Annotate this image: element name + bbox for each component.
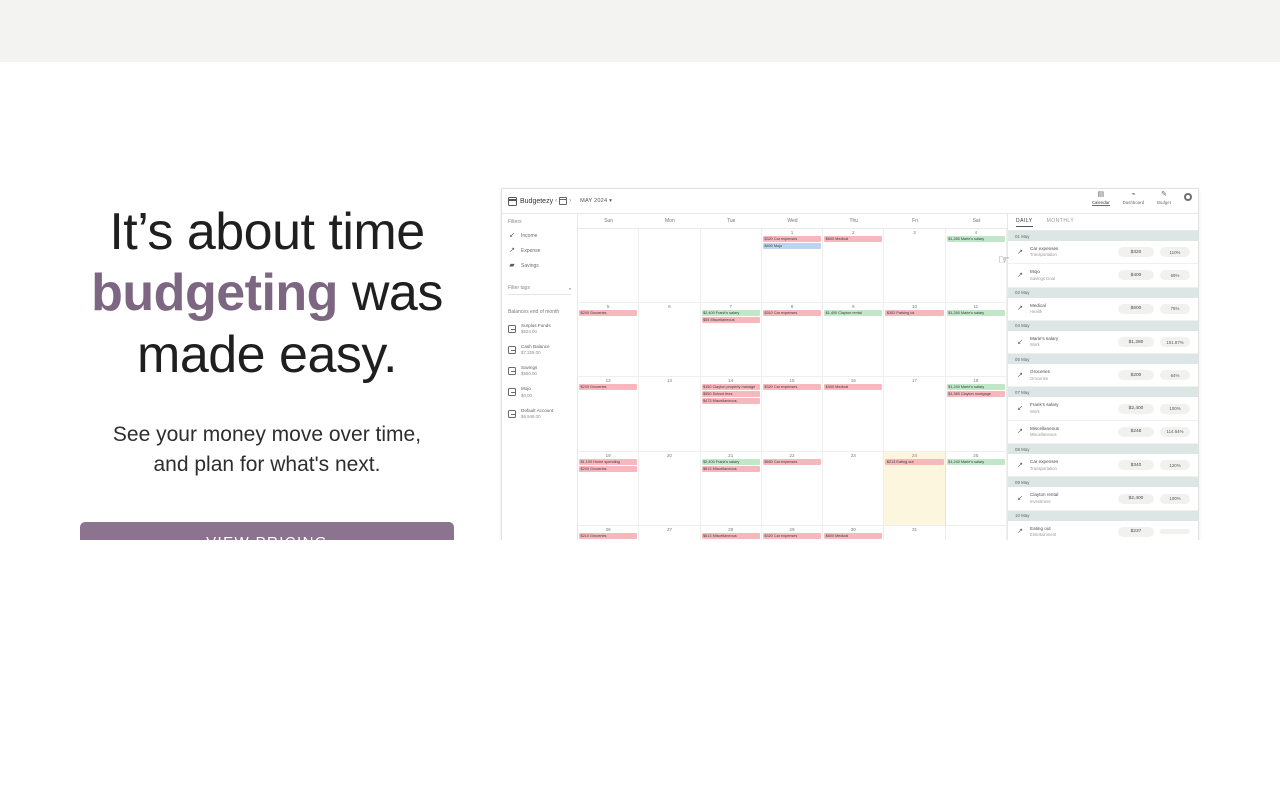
sidebar-filter-savings[interactable]: ▰Savings: [508, 262, 571, 269]
calendar-day-number: 14: [702, 378, 760, 383]
calendar-day-number: 31: [885, 527, 943, 532]
transaction-date-header: 01 May: [1008, 231, 1198, 241]
calendar-cell[interactable]: 11$1,280 Marie's salary: [946, 303, 1007, 377]
transaction-percent: 114.64%: [1160, 427, 1190, 437]
arrow-down-left-icon: ↙: [1016, 405, 1024, 412]
calendar-event[interactable]: $150 Clayton property manage: [702, 384, 760, 390]
transactions-tabs: DAILYMONTHLY: [1008, 214, 1198, 231]
transaction-row[interactable]: ↙Marie's salaryWork$1,280101.87%: [1008, 331, 1198, 354]
calendar-event[interactable]: $473 Miscellaneous: [702, 398, 760, 404]
calendar-day-number: 29: [763, 527, 821, 532]
calendar-icon: ▤: [1098, 191, 1105, 198]
balance-value: $524.00: [521, 329, 551, 335]
transaction-row[interactable]: ↗GroceriesGroceries$20064%: [1008, 364, 1198, 387]
calendar-cell[interactable]: 13: [639, 377, 700, 451]
calendar-day-number: 20: [640, 453, 698, 458]
sidebar-filter-label: Savings: [521, 263, 539, 269]
arrow-up-right-icon: ↗: [1016, 305, 1024, 312]
transaction-date-header: 04 May: [1008, 321, 1198, 331]
sidebar-filter-label: Expense: [521, 248, 540, 254]
balance-name: Mojo: [521, 386, 532, 392]
calendar-day-number: 12: [579, 378, 637, 383]
balance-name: Default Account: [521, 408, 553, 414]
hero-title-line1: It’s about time: [109, 203, 424, 261]
calendar-cell[interactable]: 1$320 Car expenses$400 Mojo: [762, 229, 823, 303]
calendar-day-number: 13: [640, 378, 698, 383]
calendar-event[interactable]: $600 Medical: [824, 533, 882, 539]
transaction-date-header: 07 May: [1008, 387, 1198, 397]
page-title: It’s about time budgeting was made easy.: [80, 202, 454, 386]
transaction-category: Entertainment: [1030, 532, 1112, 538]
calendar-day-number: 21: [702, 453, 760, 458]
calendar-day-number: 22: [763, 453, 821, 458]
hero-section: It’s about time budgeting was made easy.…: [0, 62, 1280, 540]
app-logo-icon: [508, 197, 517, 206]
transaction-category: Work: [1030, 409, 1112, 415]
transaction-row[interactable]: ↗MiscellaneousMiscellaneous$248114.64%: [1008, 421, 1198, 444]
app-screenshot-desktop: Budgetezy ‹ › MAY 2024 ▾ ▤ Calendar ⌁ Da…: [501, 188, 1199, 599]
arrow-down-left-icon: ↙: [1016, 495, 1024, 502]
filter-tags-label: Filter tags: [508, 285, 530, 291]
calendar-event[interactable]: $400 Medical: [824, 384, 882, 390]
arrow-up-right-icon: ↗: [1016, 462, 1024, 469]
transaction-percent: 69%: [1160, 270, 1190, 280]
transaction-name-block: MiscellaneousMiscellaneous: [1030, 426, 1112, 438]
wallet-icon: [508, 346, 516, 354]
calendar-cell[interactable]: 7$2,400 Frank's salary$55 Miscellaneous: [701, 303, 762, 377]
calendar-event[interactable]: $613 Miscellaneous: [702, 533, 760, 539]
app-topbar: Budgetezy ‹ › MAY 2024 ▾ ▤ Calendar ⌁ Da…: [502, 189, 1198, 214]
transaction-date-header: 08 May: [1008, 444, 1198, 454]
hero-subtitle-line1: See your money move over time,: [113, 423, 421, 446]
transaction-percent: 101.87%: [1160, 337, 1190, 347]
calendar-cell[interactable]: 5$200 Groceries: [578, 303, 639, 377]
calendar-cell[interactable]: 8$310 Car expenses: [762, 303, 823, 377]
transaction-name-block: MojoSavings Goal: [1030, 269, 1112, 281]
transaction-category: Savings Goal: [1030, 276, 1112, 282]
transaction-date-header: 10 May: [1008, 511, 1198, 521]
tab-calendar[interactable]: ▤ Calendar: [1092, 191, 1110, 206]
calendar-day-number: 17: [885, 378, 943, 383]
calendar-event[interactable]: $1,240 Marie's salary: [947, 384, 1005, 390]
month-selector[interactable]: MAY 2024 ▾: [580, 198, 612, 204]
calendar-event[interactable]: $1,280 Marie's salary: [947, 236, 1005, 242]
calendar-cell[interactable]: 3: [884, 229, 945, 303]
calendar-cell[interactable]: 2$600 Medical: [823, 229, 884, 303]
prev-month-button[interactable]: ‹: [555, 198, 557, 204]
calendar-dow-sat: Sat: [946, 214, 1007, 228]
calendar-cell[interactable]: 17: [884, 377, 945, 451]
calendar-event[interactable]: $55 Miscellaneous: [702, 317, 760, 323]
calendar-cell[interactable]: 14$150 Clayton property manage$550 Schoo…: [701, 377, 762, 451]
arrow-up-right-icon: ↗: [1016, 528, 1024, 535]
calendar-cell[interactable]: 4$1,280 Marie's salary: [946, 229, 1007, 303]
calendar-cell[interactable]: 21$2,400 Frank's salary$613 Miscellaneou…: [701, 452, 762, 526]
calendar-event[interactable]: $200 Groceries: [579, 466, 637, 472]
calendar-dow-thu: Thu: [823, 214, 884, 228]
transaction-category: Work: [1030, 342, 1112, 348]
today-calendar-icon[interactable]: [559, 197, 567, 205]
calendar-cell[interactable]: [639, 229, 700, 303]
transaction-name-block: Marie's salaryWork: [1030, 336, 1112, 348]
calendar-cell[interactable]: 12$200 Groceries: [578, 377, 639, 451]
calendar-cell[interactable]: 20: [639, 452, 700, 526]
calendar-dow-mon: Mon: [639, 214, 700, 228]
transaction-amount: $340: [1118, 460, 1154, 470]
transaction-percent: 120%: [1160, 460, 1190, 470]
calendar-cell[interactable]: 6: [639, 303, 700, 377]
transaction-name-block: Frank's salaryWork: [1030, 402, 1112, 414]
transaction-name-block: Car expensesTransportation: [1030, 459, 1112, 471]
balance-text: Default Account$6,948.00: [521, 408, 553, 420]
calendar-day-number: 1: [763, 230, 821, 235]
transaction-amount: $200: [1118, 370, 1154, 380]
arrow-down-left-icon: ↙: [508, 232, 516, 239]
calendar-day-number: 15: [763, 378, 821, 383]
calendar-day-number: 4: [947, 230, 1005, 235]
transaction-name-block: Eating outEntertainment: [1030, 526, 1112, 538]
tab-calendar-label: Calendar: [1092, 200, 1110, 207]
calendar-day-number: 18: [947, 378, 1005, 383]
chevron-down-icon: ▾: [569, 286, 571, 291]
sidebar-filter-income[interactable]: ↙Income: [508, 232, 571, 239]
hero-copy: It’s about time budgeting was made easy.…: [80, 202, 454, 564]
transaction-category: Health: [1030, 309, 1112, 315]
wallet-icon: [508, 388, 516, 396]
next-month-button[interactable]: ›: [569, 198, 571, 204]
calendar-cell[interactable]: 16$400 Medical: [823, 377, 884, 451]
calendar-day-number: 9: [824, 304, 882, 309]
calendar-event[interactable]: $600 Medical: [824, 236, 882, 242]
balance-item: Mojo$0.00: [508, 386, 571, 398]
wallet-icon: [508, 410, 516, 418]
calendar-day-number: 23: [824, 453, 882, 458]
balance-value: $6,948.00: [521, 414, 553, 420]
balance-text: Mojo$0.00: [521, 386, 532, 398]
calendar-day-number: 28: [702, 527, 760, 532]
calendar-event[interactable]: $1,100 Home spending: [579, 459, 637, 465]
transaction-percent: 64%: [1160, 370, 1190, 380]
arrow-up-right-icon: ↗: [1016, 372, 1024, 379]
transaction-percent: 110%: [1160, 247, 1190, 257]
calendar-event[interactable]: $1,380 Clayton mortgage: [947, 391, 1005, 397]
transaction-amount: $600: [1118, 304, 1154, 314]
calendar-day-number: 3: [885, 230, 943, 235]
piggy-bank-icon: ▰: [508, 262, 516, 269]
calendar-event[interactable]: $320 Car expenses: [763, 384, 821, 390]
page-top-band: [0, 0, 1280, 62]
calendar-event[interactable]: $2,400 Frank's salary: [702, 459, 760, 465]
transaction-category: Investment: [1030, 499, 1112, 505]
sidebar-filter-expense[interactable]: ↗Expense: [508, 247, 571, 254]
tab-budget-label: Budget: [1157, 200, 1171, 205]
calendar-event[interactable]: $1,280 Marie's salary: [947, 310, 1005, 316]
balance-item: Cash Balance$7,328.00: [508, 344, 571, 356]
balances-list: Surplus Funds$524.00Cash Balance$7,328.0…: [508, 323, 571, 420]
balance-value: $550.00: [521, 371, 537, 377]
arrow-down-left-icon: ↙: [1016, 339, 1024, 346]
hero-title-accent: budgeting: [91, 264, 338, 322]
calendar-event[interactable]: $352 Parking lot: [885, 310, 943, 316]
arrow-up-right-icon: ↗: [1016, 272, 1024, 279]
calendar-dow-tue: Tue: [701, 214, 762, 228]
calendar-day-number: 19: [579, 453, 637, 458]
transaction-category: Groceries: [1030, 376, 1112, 382]
arrow-up-right-icon: ↗: [1016, 428, 1024, 435]
calendar-event[interactable]: $210 Groceries: [579, 533, 637, 539]
balance-value: $0.00: [521, 393, 532, 399]
filter-tags-dropdown[interactable]: Filter tags ▾: [508, 285, 571, 295]
pencil-icon: ✎: [1161, 191, 1167, 198]
calendar-event[interactable]: $310 Car expenses: [763, 310, 821, 316]
transaction-row[interactable]: ↗MedicalHealth$60075%: [1008, 298, 1198, 321]
balances-heading: Balances end of month: [508, 309, 571, 315]
calendar-day-number: 25: [947, 453, 1005, 458]
calendar-cell[interactable]: 10$352 Parking lot: [884, 303, 945, 377]
balance-item: Default Account$6,948.00: [508, 408, 571, 420]
calendar-event[interactable]: $2,400 Frank's salary: [702, 310, 760, 316]
balance-text: Savings$550.00: [521, 365, 537, 377]
wallet-icon: [508, 325, 516, 333]
tab-dashboard[interactable]: ⌁ Dashboard: [1123, 191, 1144, 205]
transaction-row[interactable]: ↗Car expensesTransportation$320110%: [1008, 241, 1198, 264]
calendar-day-number: 26: [579, 527, 637, 532]
calendar-day-number: 7: [702, 304, 760, 309]
calendar-cell[interactable]: 23: [823, 452, 884, 526]
balance-item: Surplus Funds$524.00: [508, 323, 571, 335]
balance-item: Savings$550.00: [508, 365, 571, 377]
balance-text: Surplus Funds$524.00: [521, 323, 551, 335]
calendar-event[interactable]: $613 Miscellaneous: [702, 466, 760, 472]
calendar-cell[interactable]: 25$1,240 Marie's salary: [946, 452, 1007, 526]
calendar-day-number: 8: [763, 304, 821, 309]
hero-subtitle-line2: and plan for what's next.: [154, 453, 381, 476]
transaction-percent: [1160, 529, 1190, 534]
calendar-event[interactable]: $200 Groceries: [579, 384, 637, 390]
transaction-row[interactable]: ↙Clayton rentalInvestment$2,400100%: [1008, 487, 1198, 510]
calendar-cell[interactable]: 15$320 Car expenses: [762, 377, 823, 451]
calendar-event[interactable]: $1,400 Clayton rental: [824, 310, 882, 316]
transaction-name-block: MedicalHealth: [1030, 303, 1112, 315]
transaction-category: Transportation: [1030, 252, 1112, 258]
hero-title-line3: made easy.: [137, 326, 397, 384]
calendar-cell[interactable]: [701, 229, 762, 303]
transaction-name-block: Car expensesTransportation: [1030, 246, 1112, 258]
calendar-day-number: 2: [824, 230, 882, 235]
app-brand-label: Budgetezy: [520, 198, 553, 205]
tab-daily[interactable]: DAILY: [1016, 218, 1033, 227]
transaction-date-header: 09 May: [1008, 477, 1198, 487]
filters-list: ↙Income↗Expense▰Savings: [508, 232, 571, 269]
calendar-cell[interactable]: 19$1,100 Home spending$200 Groceries: [578, 452, 639, 526]
calendar-day-headers: SunMonTueWedThuFriSat: [578, 214, 1007, 229]
arrow-up-right-icon: ↗: [1016, 249, 1024, 256]
calendar-day-number: 30: [824, 527, 882, 532]
calendar-event[interactable]: $320 Car expenses: [763, 533, 821, 539]
calendar-dow-wed: Wed: [762, 214, 823, 228]
account-avatar-icon[interactable]: [1184, 193, 1192, 201]
calendar-day-number: 11: [947, 304, 1005, 309]
calendar-day-number: 24: [885, 453, 943, 458]
hero-title-line2-rest: was: [338, 264, 443, 322]
calendar-cell[interactable]: 22$650 Car expenses: [762, 452, 823, 526]
balance-value: $7,328.00: [521, 350, 550, 356]
transaction-category: Transportation: [1030, 466, 1112, 472]
transaction-amount: $1,280: [1118, 337, 1154, 347]
transaction-name-block: GroceriesGroceries: [1030, 369, 1112, 381]
transaction-category: Miscellaneous: [1030, 432, 1112, 438]
calendar-cell[interactable]: [578, 229, 639, 303]
hero-subtitle: See your money move over time, and plan …: [80, 420, 454, 480]
transaction-date-header: 02 May: [1008, 288, 1198, 298]
comfort-section: The comfort of having your budget under …: [0, 540, 1280, 800]
calendar-day-number: 16: [824, 378, 882, 383]
tab-dashboard-label: Dashboard: [1123, 200, 1144, 205]
app-brand: Budgetezy: [508, 197, 553, 206]
transaction-percent: 100%: [1160, 494, 1190, 504]
transaction-percent: 75%: [1160, 304, 1190, 314]
transaction-amount: $248: [1118, 427, 1154, 437]
transaction-amount: $237: [1118, 527, 1154, 537]
calendar-event[interactable]: $1,240 Marie's salary: [947, 459, 1005, 465]
transaction-row[interactable]: ↗MojoSavings Goal$40069%: [1008, 264, 1198, 287]
chart-line-icon: ⌁: [1131, 191, 1135, 198]
transaction-amount: $2,400: [1118, 494, 1154, 504]
calendar-event[interactable]: $213 Eating out: [885, 459, 943, 465]
transaction-amount: $2,400: [1118, 404, 1154, 414]
transaction-row[interactable]: ↗Car expensesTransportation$340120%: [1008, 454, 1198, 477]
transaction-percent: 100%: [1160, 404, 1190, 414]
calendar-event[interactable]: $650 Car expenses: [763, 459, 821, 465]
calendar-day-number: 27: [640, 527, 698, 532]
chevron-down-icon: ▾: [609, 198, 612, 204]
calendar-event[interactable]: $400 Mojo: [763, 243, 821, 249]
calendar-dow-sun: Sun: [578, 214, 639, 228]
calendar-day-number: 10: [885, 304, 943, 309]
calendar-event[interactable]: $200 Groceries: [579, 310, 637, 316]
calendar-cell[interactable]: 24$213 Eating out: [884, 452, 945, 526]
calendar-day-number: 6: [640, 304, 698, 309]
tab-budget[interactable]: ✎ Budget: [1157, 191, 1171, 205]
calendar-event[interactable]: $320 Car expenses: [763, 236, 821, 242]
calendar-cell[interactable]: 18$1,240 Marie's salary$1,380 Clayton mo…: [946, 377, 1007, 451]
wallet-icon: [508, 367, 516, 375]
filters-heading: Filters: [508, 219, 571, 225]
app-nav-icons: ▤ Calendar ⌁ Dashboard ✎ Budget: [1092, 191, 1192, 206]
sidebar-filter-label: Income: [521, 233, 537, 239]
calendar-dow-fri: Fri: [884, 214, 945, 228]
transaction-name-block: Clayton rentalInvestment: [1030, 492, 1112, 504]
calendar-day-number: 5: [579, 304, 637, 309]
arrow-up-right-icon: ↗: [508, 247, 516, 254]
balance-text: Cash Balance$7,328.00: [521, 344, 550, 356]
month-label-text: MAY 2024: [580, 198, 607, 204]
transaction-amount: $320: [1118, 247, 1154, 257]
transaction-amount: $400: [1118, 270, 1154, 280]
tab-monthly[interactable]: MONTHLY: [1047, 218, 1075, 227]
transaction-date-header: 05 May: [1008, 354, 1198, 364]
calendar-event[interactable]: $550 School fees: [702, 391, 760, 397]
transaction-row[interactable]: ↙Frank's salaryWork$2,400100%: [1008, 397, 1198, 420]
calendar-cell[interactable]: 9$1,400 Clayton rental: [823, 303, 884, 377]
